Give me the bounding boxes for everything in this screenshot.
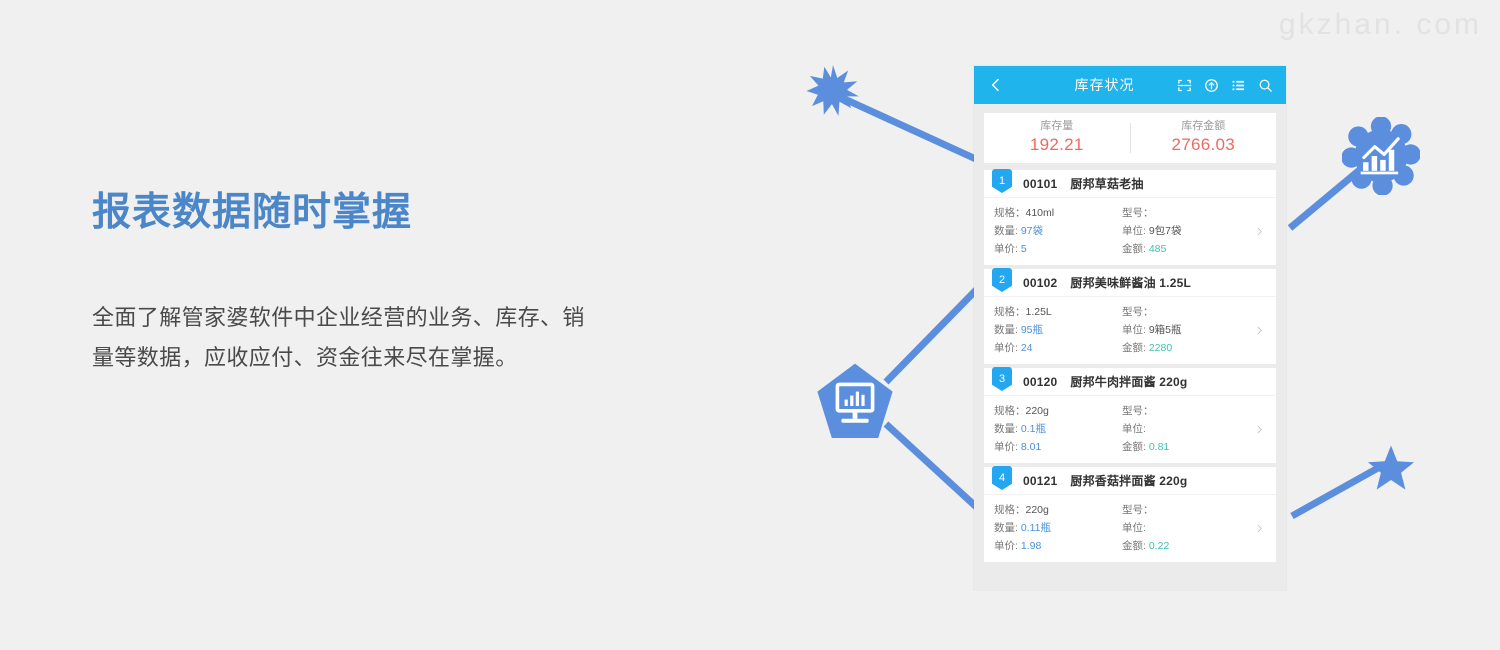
item-code: 00101 bbox=[1023, 177, 1057, 191]
spec-label: 规格： bbox=[994, 504, 1026, 516]
watermark-text: gkzhan. com bbox=[1279, 8, 1482, 42]
price-field: 单价: 8.01 bbox=[994, 438, 1122, 456]
price-value: 5 bbox=[1021, 243, 1027, 255]
list-item-details: 规格：1.25L 型号： 数量: 95瓶 单位: 9箱5瓶 单价: 24 金额:… bbox=[984, 297, 1276, 364]
quantity-value: 95瓶 bbox=[1021, 324, 1043, 336]
item-name: 厨邦美味鲜酱油 1.25L bbox=[1070, 274, 1191, 291]
list-item-header: 1 00101 厨邦草菇老抽 bbox=[984, 170, 1276, 198]
quantity-field: 数量: 0.1瓶 bbox=[994, 420, 1122, 438]
spec-label: 规格： bbox=[994, 405, 1026, 417]
spec-field: 规格：1.25L bbox=[994, 303, 1122, 321]
spec-field: 规格：410ml bbox=[994, 204, 1122, 222]
model-field: 型号： bbox=[1122, 402, 1250, 420]
quantity-field: 数量: 0.11瓶 bbox=[994, 519, 1122, 537]
price-field: 单价: 5 bbox=[994, 240, 1122, 258]
amount-label: 金额: bbox=[1122, 540, 1146, 552]
price-label: 单价: bbox=[994, 540, 1018, 552]
chevron-right-icon[interactable] bbox=[1255, 323, 1264, 338]
amount-label: 金额: bbox=[1122, 441, 1146, 453]
spec-value: 1.25L bbox=[1026, 306, 1052, 318]
model-field: 型号： bbox=[1122, 204, 1250, 222]
list-icon[interactable] bbox=[1229, 76, 1247, 94]
price-value: 8.01 bbox=[1021, 441, 1041, 453]
item-code: 00120 bbox=[1023, 375, 1057, 389]
spec-value: 410ml bbox=[1026, 207, 1055, 219]
detail-row: 单价: 8.01 金额: 0.81 bbox=[994, 438, 1276, 456]
stat-label: 库存量 bbox=[984, 119, 1130, 133]
amount-value: 2280 bbox=[1149, 342, 1172, 354]
price-value: 24 bbox=[1021, 342, 1033, 354]
stat-stock-amount: 库存金额 2766.03 bbox=[1131, 119, 1277, 156]
unit-label: 单位: bbox=[1122, 522, 1146, 534]
quantity-field: 数量: 95瓶 bbox=[994, 321, 1122, 339]
page-title: 报表数据随时掌握 bbox=[92, 190, 612, 236]
amount-value: 0.22 bbox=[1149, 540, 1169, 552]
stat-stock-quantity: 库存量 192.21 bbox=[984, 119, 1130, 156]
price-value: 1.98 bbox=[1021, 540, 1041, 552]
app-title: 库存状况 bbox=[1006, 75, 1175, 95]
model-label: 型号： bbox=[1122, 306, 1154, 318]
quantity-label: 数量: bbox=[994, 324, 1018, 336]
amount-value: 485 bbox=[1149, 243, 1167, 255]
detail-row: 规格：1.25L 型号： bbox=[994, 303, 1276, 321]
quantity-field: 数量: 97袋 bbox=[994, 222, 1122, 240]
item-index-badge: 1 bbox=[992, 169, 1012, 193]
upload-circle-icon[interactable] bbox=[1202, 76, 1220, 94]
unit-field: 单位: 9包7袋 bbox=[1122, 222, 1250, 240]
list-item-header: 4 00121 厨邦香菇拌面酱 220g bbox=[984, 467, 1276, 495]
spec-label: 规格： bbox=[994, 207, 1026, 219]
item-index-badge: 3 bbox=[992, 367, 1012, 391]
model-label: 型号： bbox=[1122, 405, 1154, 417]
promo-description: 全面了解管家婆软件中企业经营的业务、库存、销量等数据，应收应付、资金往来尽在掌握… bbox=[92, 236, 592, 378]
spec-label: 规格： bbox=[994, 306, 1026, 318]
inventory-list: 1 00101 厨邦草菇老抽 规格：410ml 型号： 数量: 97袋 单位: … bbox=[974, 170, 1286, 562]
pentagon-monitor-chart-icon bbox=[814, 362, 896, 442]
chevron-right-icon[interactable] bbox=[1255, 224, 1264, 239]
item-name: 厨邦草菇老抽 bbox=[1070, 175, 1143, 192]
list-item-details: 规格：220g 型号： 数量: 0.11瓶 单位: 单价: 1.98 金额: 0… bbox=[984, 495, 1276, 562]
amount-field: 金额: 0.22 bbox=[1122, 537, 1250, 555]
list-item[interactable]: 3 00120 厨邦牛肉拌面酱 220g 规格：220g 型号： 数量: 0.1… bbox=[984, 368, 1276, 463]
chevron-right-icon[interactable] bbox=[1255, 422, 1264, 437]
amount-label: 金额: bbox=[1122, 243, 1146, 255]
amount-label: 金额: bbox=[1122, 342, 1146, 354]
amount-field: 金额: 485 bbox=[1122, 240, 1250, 258]
list-item-details: 规格：220g 型号： 数量: 0.1瓶 单位: 单价: 8.01 金额: 0.… bbox=[984, 396, 1276, 463]
quantity-value: 97袋 bbox=[1021, 225, 1043, 237]
detail-row: 规格：410ml 型号： bbox=[994, 204, 1276, 222]
summary-card: 库存量 192.21 库存金额 2766.03 bbox=[984, 113, 1276, 163]
summary-section: 库存量 192.21 库存金额 2766.03 bbox=[974, 104, 1286, 170]
quantity-value: 0.11瓶 bbox=[1021, 522, 1051, 534]
app-header: 库存状况 bbox=[974, 66, 1286, 104]
price-field: 单价: 1.98 bbox=[994, 537, 1122, 555]
unit-value: 9箱5瓶 bbox=[1149, 324, 1182, 336]
list-item[interactable]: 2 00102 厨邦美味鲜酱油 1.25L 规格：1.25L 型号： 数量: 9… bbox=[984, 269, 1276, 364]
unit-field: 单位: 9箱5瓶 bbox=[1122, 321, 1250, 339]
quantity-label: 数量: bbox=[994, 225, 1018, 237]
price-field: 单价: 24 bbox=[994, 339, 1122, 357]
star-icon bbox=[1366, 444, 1416, 492]
stat-value: 192.21 bbox=[984, 134, 1130, 157]
spec-value: 220g bbox=[1026, 504, 1049, 516]
back-icon[interactable] bbox=[986, 75, 1006, 95]
amount-field: 金额: 2280 bbox=[1122, 339, 1250, 357]
model-field: 型号： bbox=[1122, 303, 1250, 321]
quantity-value: 0.1瓶 bbox=[1021, 423, 1046, 435]
price-label: 单价: bbox=[994, 441, 1018, 453]
stat-label: 库存金额 bbox=[1131, 119, 1277, 133]
spec-field: 规格：220g bbox=[994, 402, 1122, 420]
item-name: 厨邦牛肉拌面酱 220g bbox=[1070, 373, 1187, 390]
scan-icon[interactable] bbox=[1175, 76, 1193, 94]
header-actions bbox=[1175, 76, 1274, 94]
item-index-badge: 2 bbox=[992, 268, 1012, 292]
poster-stage: gkzhan. com 报表数据随时掌握 全面了解管家婆软件中企业经营的业务、库… bbox=[0, 0, 1500, 650]
quantity-label: 数量: bbox=[994, 522, 1018, 534]
amount-value: 0.81 bbox=[1149, 441, 1169, 453]
amount-field: 金额: 0.81 bbox=[1122, 438, 1250, 456]
detail-row: 数量: 97袋 单位: 9包7袋 bbox=[994, 222, 1276, 240]
unit-field: 单位: bbox=[1122, 519, 1250, 537]
spec-value: 220g bbox=[1026, 405, 1049, 417]
list-item[interactable]: 1 00101 厨邦草菇老抽 规格：410ml 型号： 数量: 97袋 单位: … bbox=[984, 170, 1276, 265]
list-item-header: 2 00102 厨邦美味鲜酱油 1.25L bbox=[984, 269, 1276, 297]
unit-field: 单位: bbox=[1122, 420, 1250, 438]
detail-row: 规格：220g 型号： bbox=[994, 501, 1276, 519]
detail-row: 单价: 24 金额: 2280 bbox=[994, 339, 1276, 357]
detail-row: 单价: 5 金额: 485 bbox=[994, 240, 1276, 258]
model-field: 型号： bbox=[1122, 501, 1250, 519]
item-name: 厨邦香菇拌面酱 220g bbox=[1070, 472, 1187, 489]
price-label: 单价: bbox=[994, 243, 1018, 255]
detail-row: 数量: 0.11瓶 单位: bbox=[994, 519, 1276, 537]
phone-mock: 库存状况 bbox=[974, 66, 1286, 590]
model-label: 型号： bbox=[1122, 504, 1154, 516]
unit-value: 9包7袋 bbox=[1149, 225, 1182, 237]
unit-label: 单位: bbox=[1122, 423, 1146, 435]
detail-row: 单价: 1.98 金额: 0.22 bbox=[994, 537, 1276, 555]
list-item-header: 3 00120 厨邦牛肉拌面酱 220g bbox=[984, 368, 1276, 396]
list-item-details: 规格：410ml 型号： 数量: 97袋 单位: 9包7袋 单价: 5 金额: … bbox=[984, 198, 1276, 265]
list-footer-spacer bbox=[974, 566, 1286, 590]
chevron-right-icon[interactable] bbox=[1255, 521, 1264, 536]
stat-value: 2766.03 bbox=[1131, 134, 1277, 157]
detail-row: 规格：220g 型号： bbox=[994, 402, 1276, 420]
item-code: 00102 bbox=[1023, 276, 1057, 290]
list-item[interactable]: 4 00121 厨邦香菇拌面酱 220g 规格：220g 型号： 数量: 0.1… bbox=[984, 467, 1276, 562]
detail-row: 数量: 0.1瓶 单位: bbox=[994, 420, 1276, 438]
item-code: 00121 bbox=[1023, 474, 1057, 488]
detail-row: 数量: 95瓶 单位: 9箱5瓶 bbox=[994, 321, 1276, 339]
spec-field: 规格：220g bbox=[994, 501, 1122, 519]
model-label: 型号： bbox=[1122, 207, 1154, 219]
unit-label: 单位: bbox=[1122, 225, 1146, 237]
quantity-label: 数量: bbox=[994, 423, 1018, 435]
price-label: 单价: bbox=[994, 342, 1018, 354]
search-icon[interactable] bbox=[1256, 76, 1274, 94]
item-index-badge: 4 bbox=[992, 466, 1012, 490]
burst-icon bbox=[806, 64, 860, 118]
promo-copy: 报表数据随时掌握 全面了解管家婆软件中企业经营的业务、库存、销量等数据，应收应付… bbox=[92, 190, 612, 378]
flower-growth-chart-icon bbox=[1342, 117, 1420, 195]
unit-label: 单位: bbox=[1122, 324, 1146, 336]
